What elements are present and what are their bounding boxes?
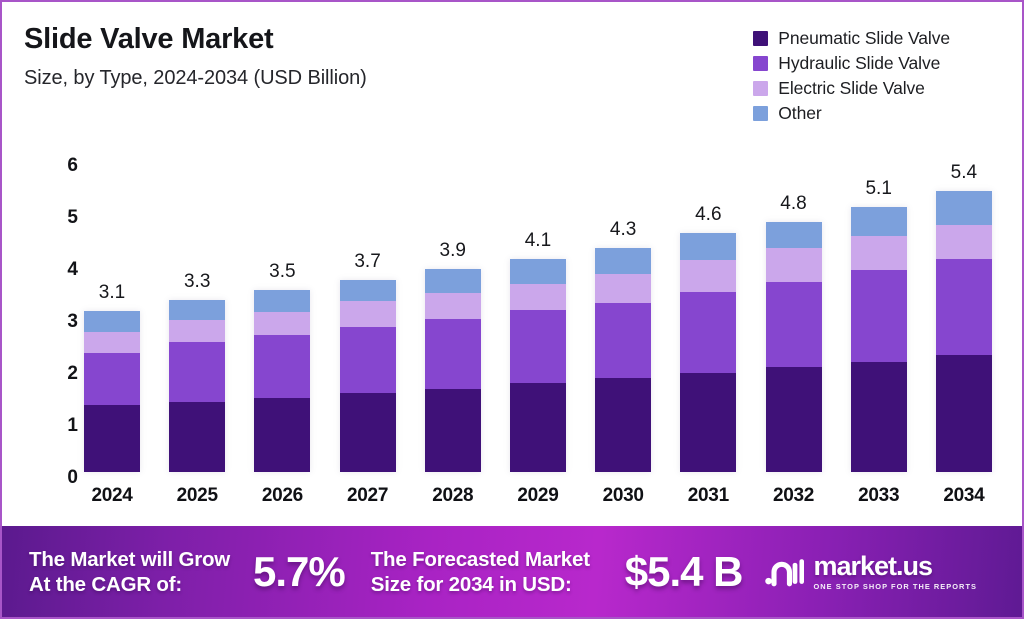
bar-segment[interactable] xyxy=(84,353,140,405)
bar-segment[interactable] xyxy=(340,327,396,393)
y-axis-tick: 6 xyxy=(67,155,78,165)
bar-segment[interactable] xyxy=(84,332,140,353)
bar-segment[interactable] xyxy=(595,378,651,472)
bar-segment[interactable] xyxy=(340,301,396,328)
chart-plot-area: 0123456 3.13.33.53.73.94.14.34.64.85.15.… xyxy=(84,152,992,472)
bar-value-label: 3.1 xyxy=(99,282,125,304)
chart-legend: Pneumatic Slide ValveHydraulic Slide Val… xyxy=(753,30,950,130)
bar-column[interactable]: 5.4 xyxy=(936,160,992,472)
bar-segment[interactable] xyxy=(510,259,566,284)
bar-column[interactable]: 3.3 xyxy=(169,160,225,472)
bar-value-label: 3.3 xyxy=(184,271,210,293)
stacked-bar[interactable] xyxy=(169,300,225,472)
legend-item: Electric Slide Valve xyxy=(753,80,950,96)
bar-value-label: 3.7 xyxy=(354,251,380,273)
bar-segment[interactable] xyxy=(595,248,651,273)
bar-segment[interactable] xyxy=(169,342,225,402)
legend-item: Other xyxy=(753,105,950,121)
bottom-banner: The Market will Grow At the CAGR of: 5.7… xyxy=(2,526,1024,617)
bar-segment[interactable] xyxy=(595,274,651,303)
market-us-logo: market.us ONE STOP SHOP FOR THE REPORTS xyxy=(764,553,977,590)
stacked-bar[interactable] xyxy=(340,280,396,472)
logo-text: market.us ONE STOP SHOP FOR THE REPORTS xyxy=(813,553,977,590)
legend-item: Pneumatic Slide Valve xyxy=(753,30,950,46)
bar-segment[interactable] xyxy=(425,319,481,389)
bar-value-label: 5.4 xyxy=(951,162,977,184)
bar-segment[interactable] xyxy=(851,207,907,237)
y-axis: 0123456 xyxy=(44,152,78,472)
x-axis-tick: 2032 xyxy=(766,485,822,507)
x-axis-tick: 2030 xyxy=(595,485,651,507)
bar-segment[interactable] xyxy=(425,269,481,293)
stacked-bar[interactable] xyxy=(84,311,140,472)
bar-segment[interactable] xyxy=(595,303,651,378)
legend-label: Hydraulic Slide Valve xyxy=(778,53,940,74)
bar-segment[interactable] xyxy=(851,270,907,362)
bar-segment[interactable] xyxy=(254,335,310,397)
bar-value-label: 5.1 xyxy=(865,178,891,200)
stacked-bar[interactable] xyxy=(510,259,566,472)
stacked-bar[interactable] xyxy=(595,248,651,472)
logo-tagline: ONE STOP SHOP FOR THE REPORTS xyxy=(813,583,977,590)
bar-segment[interactable] xyxy=(254,290,310,312)
bar-segment[interactable] xyxy=(84,311,140,332)
bar-segment[interactable] xyxy=(851,236,907,270)
x-axis-tick: 2033 xyxy=(851,485,907,507)
bar-segment[interactable] xyxy=(936,355,992,472)
bar-column[interactable]: 3.9 xyxy=(425,160,481,472)
bar-column[interactable]: 3.5 xyxy=(254,160,310,472)
stacked-bar[interactable] xyxy=(425,269,481,472)
y-axis-tick: 0 xyxy=(67,467,78,477)
legend-swatch-icon xyxy=(753,106,768,121)
stacked-bar[interactable] xyxy=(254,290,310,472)
bar-segment[interactable] xyxy=(766,367,822,472)
bar-value-label: 4.1 xyxy=(525,230,551,252)
bar-segment[interactable] xyxy=(425,389,481,472)
bar-segment[interactable] xyxy=(766,282,822,367)
chart-subtitle: Size, by Type, 2024-2034 (USD Billion) xyxy=(24,67,367,89)
bar-value-label: 3.9 xyxy=(440,240,466,262)
bar-group: 3.13.33.53.73.94.14.34.64.85.15.4 xyxy=(84,160,992,472)
x-axis: 2024202520262027202820292030203120322033… xyxy=(84,485,992,507)
bar-segment[interactable] xyxy=(340,393,396,472)
cagr-label: The Market will Grow At the CAGR of: xyxy=(29,547,251,597)
bar-segment[interactable] xyxy=(254,312,310,335)
page-title: Slide Valve Market xyxy=(24,24,367,56)
forecast-value: $5.4 B xyxy=(625,548,743,596)
bar-segment[interactable] xyxy=(936,259,992,355)
bar-value-label: 4.6 xyxy=(695,204,721,226)
header: Slide Valve Market Size, by Type, 2024-2… xyxy=(24,24,367,89)
x-axis-tick: 2028 xyxy=(425,485,481,507)
bar-column[interactable]: 3.1 xyxy=(84,160,140,472)
legend-label: Pneumatic Slide Valve xyxy=(778,28,950,49)
bar-segment[interactable] xyxy=(340,280,396,301)
bar-value-label: 4.3 xyxy=(610,219,636,241)
bar-column[interactable]: 4.8 xyxy=(766,160,822,472)
cagr-value: 5.7% xyxy=(253,548,345,596)
infographic-card: Slide Valve Market Size, by Type, 2024-2… xyxy=(0,0,1024,619)
legend-swatch-icon xyxy=(753,81,768,96)
bar-segment[interactable] xyxy=(169,300,225,319)
bar-segment[interactable] xyxy=(254,398,310,472)
bar-segment[interactable] xyxy=(851,362,907,472)
legend-label: Electric Slide Valve xyxy=(778,78,925,99)
bar-segment[interactable] xyxy=(510,284,566,311)
bar-segment[interactable] xyxy=(169,402,225,472)
x-axis-tick: 2034 xyxy=(936,485,992,507)
logo-mark-icon xyxy=(764,555,804,589)
bar-value-label: 3.5 xyxy=(269,261,295,283)
stacked-bar[interactable] xyxy=(851,207,907,472)
x-axis-tick: 2024 xyxy=(84,485,140,507)
bar-segment[interactable] xyxy=(936,225,992,259)
bar-segment[interactable] xyxy=(425,293,481,319)
legend-swatch-icon xyxy=(753,31,768,46)
logo-name: market.us xyxy=(813,553,977,580)
bar-segment[interactable] xyxy=(510,310,566,383)
x-axis-tick: 2031 xyxy=(680,485,736,507)
bar-segment[interactable] xyxy=(936,191,992,225)
legend-label: Other xyxy=(778,103,821,124)
stacked-bar[interactable] xyxy=(680,233,736,472)
x-axis-tick: 2026 xyxy=(254,485,310,507)
bar-segment[interactable] xyxy=(510,383,566,472)
forecast-label: The Forecasted Market Size for 2034 in U… xyxy=(371,547,617,597)
y-axis-tick: 1 xyxy=(67,415,78,425)
bar-segment[interactable] xyxy=(766,222,822,248)
y-axis-tick: 4 xyxy=(67,259,78,269)
y-axis-tick: 2 xyxy=(67,363,78,373)
x-axis-tick: 2027 xyxy=(340,485,396,507)
legend-item: Hydraulic Slide Valve xyxy=(753,55,950,71)
legend-swatch-icon xyxy=(753,56,768,71)
bar-segment[interactable] xyxy=(680,373,736,472)
bar-column[interactable]: 3.7 xyxy=(340,160,396,472)
bar-segment[interactable] xyxy=(680,233,736,261)
bar-segment[interactable] xyxy=(680,292,736,373)
y-axis-tick: 5 xyxy=(67,207,78,217)
bar-column[interactable]: 4.3 xyxy=(595,160,651,472)
bar-segment[interactable] xyxy=(680,260,736,291)
y-axis-tick: 3 xyxy=(67,311,78,321)
stacked-bar[interactable] xyxy=(766,222,822,472)
stacked-bar[interactable] xyxy=(936,191,992,472)
bar-segment[interactable] xyxy=(766,248,822,281)
bar-column[interactable]: 5.1 xyxy=(851,160,907,472)
bar-value-label: 4.8 xyxy=(780,193,806,215)
bar-segment[interactable] xyxy=(84,405,140,472)
x-axis-tick: 2025 xyxy=(169,485,225,507)
bar-column[interactable]: 4.1 xyxy=(510,160,566,472)
x-axis-tick: 2029 xyxy=(510,485,566,507)
bar-column[interactable]: 4.6 xyxy=(680,160,736,472)
bar-segment[interactable] xyxy=(169,320,225,342)
